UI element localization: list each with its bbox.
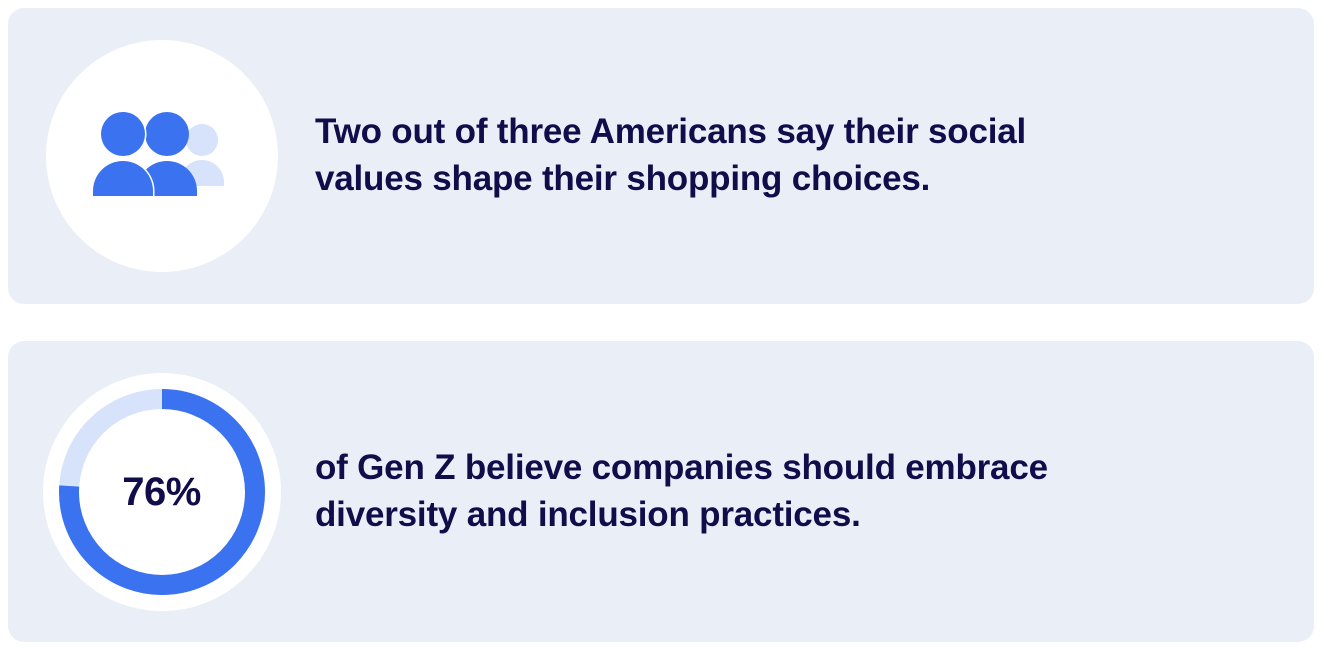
- statement-text: of Gen Z believe companies should embrac…: [315, 445, 1135, 538]
- donut-center-value: 76%: [122, 472, 201, 512]
- stat-card-gen-z-diversity: 76% of Gen Z believe companies should em…: [8, 341, 1314, 642]
- card-media-donut: 76%: [8, 373, 315, 611]
- three-people-icon: [90, 111, 230, 201]
- statement-text: Two out of three Americans say their soc…: [315, 109, 1135, 202]
- card-body-social-values: Two out of three Americans say their soc…: [315, 109, 1314, 202]
- stat-card-stack: Two out of three Americans say their soc…: [0, 0, 1322, 650]
- icon-disc: [46, 40, 278, 272]
- donut-disc: 76%: [43, 373, 281, 611]
- card-media-people: [8, 40, 315, 272]
- card-body-gen-z-diversity: of Gen Z believe companies should embrac…: [315, 445, 1314, 538]
- donut-progress-chart: 76%: [43, 373, 281, 611]
- stat-card-social-values: Two out of three Americans say their soc…: [8, 8, 1314, 304]
